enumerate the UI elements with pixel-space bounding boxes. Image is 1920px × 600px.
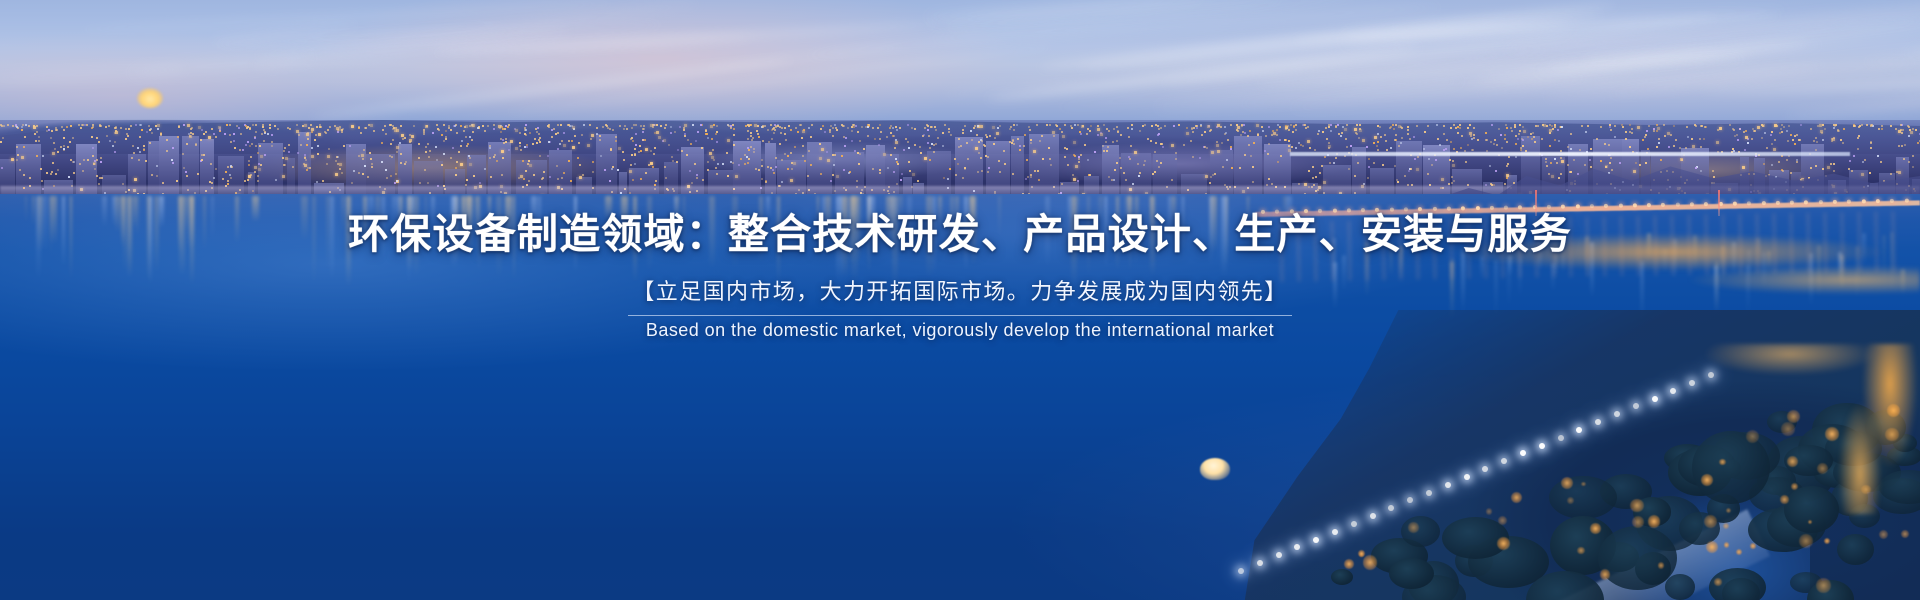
- park-amber-light: [1714, 578, 1721, 585]
- light-reflection: [147, 196, 150, 282]
- park-amber-light: [1723, 523, 1729, 529]
- park-amber-light: [1750, 543, 1755, 548]
- park-amber-light: [1704, 515, 1717, 528]
- bridge-lamp: [1733, 202, 1737, 206]
- far-bridge: [1290, 152, 1850, 156]
- park-amber-light: [1344, 559, 1354, 569]
- lit-dome-structure: [1200, 458, 1230, 480]
- park-amber-light: [1498, 516, 1507, 525]
- light-reflection: [1068, 196, 1071, 244]
- bridge-lamp: [1475, 206, 1479, 210]
- light-reflection: [1135, 196, 1138, 237]
- light-reflection: [856, 196, 861, 264]
- park-amber-light: [1724, 542, 1730, 548]
- waterfront-promontory: [1160, 300, 1920, 600]
- light-reflection: [342, 196, 344, 231]
- light-reflection: [451, 196, 456, 268]
- light-reflection: [127, 196, 132, 278]
- light-reflection: [397, 196, 400, 224]
- light-reflection: [605, 196, 612, 220]
- park-amber-light: [1408, 522, 1418, 532]
- light-reflection: [159, 196, 164, 228]
- park-amber-light: [1658, 562, 1665, 569]
- light-reflection: [898, 196, 903, 218]
- light-reflection: [674, 196, 677, 219]
- light-reflection: [633, 196, 637, 282]
- bridge-lamp: [1633, 203, 1637, 207]
- light-reflection: [1116, 196, 1119, 271]
- light-reflection: [1209, 196, 1213, 266]
- light-reflection: [42, 196, 48, 252]
- park-amber-light: [1590, 523, 1600, 533]
- light-reflection: [822, 196, 825, 261]
- light-reflection: [32, 196, 35, 226]
- bridge-lamp: [1432, 207, 1436, 211]
- right-bank-road-glow: [1380, 228, 1920, 308]
- bridge-lamp: [1847, 200, 1851, 204]
- bridge-lamp: [1618, 204, 1622, 208]
- bridge-lamp: [1361, 208, 1365, 212]
- bridge-lamp: [1761, 201, 1765, 205]
- light-reflection: [496, 196, 502, 279]
- light-reflection: [203, 196, 206, 251]
- light-reflection: [179, 196, 185, 276]
- bridge-lamp: [1604, 204, 1608, 208]
- light-reflection: [513, 196, 515, 280]
- street-lamp: [1332, 529, 1338, 535]
- light-reflection: [478, 196, 481, 271]
- light-reflection: [950, 196, 954, 249]
- light-reflection: [852, 196, 856, 222]
- bridge-lamp: [1418, 207, 1422, 211]
- bridge-lamp: [1575, 204, 1579, 208]
- light-reflection: [867, 196, 871, 256]
- park-amber-light: [1824, 538, 1830, 544]
- light-reflection: [462, 196, 465, 257]
- light-reflection: [1126, 196, 1133, 230]
- light-reflection: [683, 196, 685, 259]
- light-reflection: [1171, 196, 1176, 225]
- bridge-lamp: [1590, 204, 1594, 208]
- light-reflection: [411, 196, 415, 238]
- light-reflection: [326, 196, 329, 271]
- street-lamp: [1464, 474, 1470, 480]
- light-reflection: [938, 196, 941, 229]
- bridge-lamp: [1375, 208, 1379, 212]
- light-reflection: [759, 196, 763, 263]
- bridge-lamp: [1447, 207, 1451, 211]
- park-amber-light: [1706, 541, 1718, 553]
- bridge-lamp: [1690, 202, 1694, 206]
- light-reflection: [375, 196, 381, 233]
- bridge-lamp: [1647, 203, 1651, 207]
- park-amber-light: [1577, 547, 1584, 554]
- light-reflection: [933, 196, 936, 276]
- light-reflection: [998, 196, 1002, 237]
- park-amber-light: [1600, 569, 1611, 580]
- light-reflection: [330, 196, 334, 280]
- tree-canopy: [1598, 526, 1677, 590]
- street-lamp: [1426, 490, 1432, 496]
- bridge-lamp: [1790, 201, 1794, 205]
- street-lamp: [1238, 568, 1244, 574]
- bridge-lamp: [1390, 208, 1394, 212]
- street-lamp: [1445, 482, 1451, 488]
- bridge-lamp: [1490, 206, 1494, 210]
- light-reflection: [1182, 196, 1184, 252]
- park-amber-light: [1901, 530, 1909, 538]
- park-amber-light: [1648, 515, 1661, 528]
- bridge-lamp: [1504, 206, 1508, 210]
- street-lamp: [1370, 513, 1376, 519]
- hero-banner: 环保设备制造领域：整合技术研发、产品设计、生产、安装与服务 【立足国内市场，大力…: [0, 0, 1920, 600]
- street-lamp: [1257, 560, 1263, 566]
- light-reflection: [709, 196, 715, 269]
- light-reflection: [842, 196, 848, 278]
- street-lamp: [1558, 435, 1564, 441]
- bridge-lamp: [1890, 199, 1894, 203]
- light-reflection: [312, 196, 316, 284]
- bridge-lamp: [1876, 199, 1880, 203]
- street-lamp: [1539, 443, 1545, 449]
- light-reflection: [488, 196, 491, 220]
- bridge-lamp: [1290, 209, 1294, 213]
- tree-canopy: [1389, 558, 1434, 589]
- bridge-lamp: [1861, 199, 1865, 203]
- light-reflection: [407, 196, 411, 284]
- bridge-lamp: [1461, 206, 1465, 210]
- bridge-lamp: [1332, 209, 1336, 213]
- street-lamp: [1276, 552, 1282, 558]
- light-reflection: [955, 196, 959, 232]
- park-amber-light: [1581, 482, 1585, 486]
- bridge-lamp: [1347, 208, 1351, 212]
- bridge-lamp: [1776, 201, 1780, 205]
- light-reflection: [907, 196, 912, 260]
- light-reflection: [121, 196, 125, 248]
- light-reflection: [431, 196, 434, 225]
- light-reflection: [825, 196, 831, 243]
- park-amber-light: [1799, 534, 1813, 548]
- light-reflection: [382, 196, 386, 259]
- light-reflection: [1098, 196, 1104, 223]
- bridge-lamp: [1518, 205, 1522, 209]
- bridge-lamp: [1747, 201, 1751, 205]
- light-reflection: [252, 196, 259, 222]
- light-reflection: [370, 196, 373, 219]
- light-reflection: [969, 196, 973, 235]
- light-reflection: [766, 196, 770, 220]
- light-reflection: [466, 196, 473, 232]
- bridge-lamp: [1819, 200, 1823, 204]
- park-amber-light: [1363, 555, 1377, 569]
- coastal-road-lighting: [1620, 344, 1920, 514]
- light-reflection: [574, 196, 577, 272]
- light-reflection: [777, 196, 780, 284]
- light-reflection: [1247, 196, 1249, 228]
- light-reflection: [135, 196, 139, 235]
- light-reflection: [1045, 196, 1049, 268]
- bridge-lamp: [1833, 200, 1837, 204]
- light-reflection: [892, 196, 898, 287]
- light-reflection: [538, 196, 541, 251]
- bridge-lamp: [1547, 205, 1551, 209]
- bridge-pylon-left: [1535, 190, 1537, 216]
- bridge-lamp: [1704, 202, 1708, 206]
- street-lamp: [1313, 537, 1319, 543]
- light-reflection: [50, 196, 56, 244]
- light-reflection: [70, 196, 72, 280]
- bridge-lamp: [1661, 203, 1665, 207]
- light-reflection: [1221, 196, 1226, 277]
- bridge-lamp: [1404, 207, 1408, 211]
- light-reflection: [1150, 196, 1154, 276]
- bridge-lamp: [1304, 209, 1308, 213]
- light-reflection: [505, 196, 512, 242]
- light-reflection: [211, 196, 214, 240]
- light-reflection: [926, 196, 933, 278]
- light-reflection: [346, 196, 351, 287]
- light-reflection: [621, 196, 627, 235]
- bridge-lamp: [1275, 210, 1279, 214]
- tree-canopy: [1665, 574, 1694, 599]
- light-reflection: [817, 196, 819, 229]
- bridge-lamp: [1904, 199, 1908, 203]
- light-reflection: [647, 196, 652, 271]
- bridge-lamp: [1804, 200, 1808, 204]
- light-reflection: [188, 196, 193, 249]
- light-reflection: [732, 196, 738, 269]
- bridge-lamp: [1561, 205, 1565, 209]
- park-amber-light: [1816, 578, 1831, 593]
- light-reflection: [301, 196, 308, 241]
- park-amber-light: [1561, 477, 1573, 489]
- street-lamp: [1351, 521, 1357, 527]
- park-amber-light: [1879, 530, 1888, 539]
- light-reflection: [964, 196, 968, 271]
- light-reflection: [1087, 196, 1090, 278]
- light-reflection: [62, 196, 64, 267]
- light-reflection: [531, 196, 537, 229]
- tree-canopy: [1837, 534, 1874, 565]
- bridge-pylon-right: [1718, 190, 1720, 216]
- light-reflection: [392, 196, 397, 222]
- light-reflection: [425, 196, 427, 258]
- light-reflection: [1072, 196, 1076, 264]
- bridge-lamp: [1318, 209, 1322, 213]
- light-reflection: [235, 196, 239, 243]
- bridge-lamp: [1261, 210, 1265, 214]
- light-reflection: [102, 196, 107, 227]
- bridge-lamp: [1676, 203, 1680, 207]
- light-reflection: [1077, 196, 1079, 231]
